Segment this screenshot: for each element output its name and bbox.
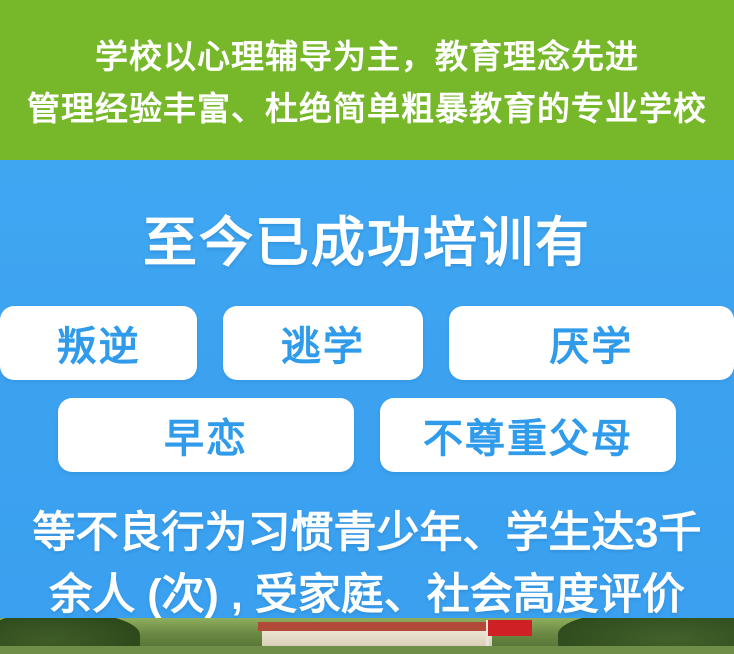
tag-pill: 逃学: [223, 306, 422, 380]
tag-pill: 厌学: [449, 306, 734, 380]
photo-building-roof: [258, 622, 496, 631]
tag-pill: 叛逆: [0, 306, 197, 380]
promo-poster: 学校以心理辅导为主，教育理念先进 管理经验丰富、杜绝简单粗暴教育的专业学校 至今…: [0, 0, 734, 654]
banner-line-1: 学校以心理辅导为主，教育理念先进: [95, 31, 639, 83]
pill-row-2: 早恋 不尊重父母: [0, 398, 734, 472]
photo-ground: [0, 646, 734, 654]
pill-row-1: 叛逆 逃学 厌学: [0, 306, 734, 380]
slogan-line-1: 等不良行为习惯青少年、学生达3千: [0, 498, 734, 560]
banner-line-2: 管理经验丰富、杜绝简单粗暴教育的专业学校: [27, 83, 707, 135]
main-section: 至今已成功培训有 叛逆 逃学 厌学 早恋 不尊重父母 等不良行为习惯青少年、学生…: [0, 160, 734, 654]
photo-flag: [488, 620, 532, 636]
slogan-line-2: 余人 (次) , 受家庭、社会高度评价: [0, 560, 734, 622]
tag-pill: 不尊重父母: [380, 398, 676, 472]
main-headline: 至今已成功培训有: [0, 198, 734, 277]
campus-photo-strip: [0, 618, 734, 654]
top-banner: 学校以心理辅导为主，教育理念先进 管理经验丰富、杜绝简单粗暴教育的专业学校: [0, 0, 734, 160]
tag-pill: 早恋: [58, 398, 354, 472]
